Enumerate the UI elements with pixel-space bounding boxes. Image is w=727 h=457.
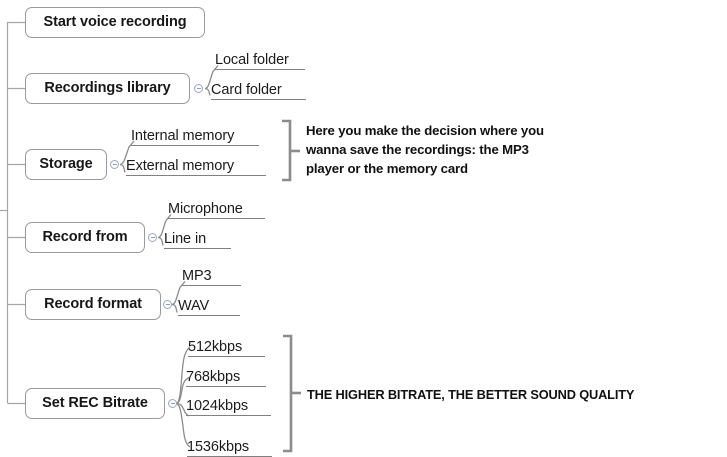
collapse-toggle-icon-record-from[interactable] [148,233,157,242]
leaf-label: 512kbps [188,340,242,355]
node-set-rec-bitrate[interactable]: Set REC Bitrate [25,388,165,419]
leaf-768kbps[interactable]: 768kbps [186,367,266,387]
leaf-local-folder[interactable]: Local folder [215,50,305,70]
leaf-label: Local folder [215,53,289,68]
annotation-storage: Here you make the decision where you wan… [306,121,636,178]
collapse-toggle-icon-recordings-library[interactable] [194,84,203,93]
leaf-label: Internal memory [131,129,234,144]
fan-recordings-library-2 [205,89,210,96]
leaf-label: 1024kbps [186,399,248,414]
node-record-format[interactable]: Record format [25,289,161,320]
node-start-voice-recording[interactable]: Start voice recording [25,7,205,38]
node-label: Recordings library [44,81,170,96]
node-label: Record from [42,230,127,245]
fan-storage-2 [120,165,125,173]
leaf-external-memory[interactable]: External memory [126,156,266,176]
leaf-label: 768kbps [186,370,240,385]
leaf-label: Card folder [211,83,282,98]
leaf-1024kbps[interactable]: 1024kbps [186,396,271,416]
leaf-microphone[interactable]: Microphone [168,199,265,219]
fan-record-from-2 [158,238,163,246]
collapse-toggle-icon-record-format[interactable] [163,300,172,309]
leaf-label: WAV [178,299,209,314]
leaf-1536kbps[interactable]: 1536kbps [187,437,272,457]
node-label: Start voice recording [44,15,187,30]
node-record-from[interactable]: Record from [25,222,145,253]
node-storage[interactable]: Storage [25,149,107,180]
node-label: Set REC Bitrate [42,396,148,411]
leaf-card-folder[interactable]: Card folder [211,80,306,100]
node-label: Record format [44,297,142,312]
fan-record-format-2 [172,305,177,313]
mindmap-canvas: Start voice recording Recordings library… [0,0,727,455]
leaf-wav[interactable]: WAV [178,296,240,316]
leaf-512kbps[interactable]: 512kbps [188,337,265,357]
leaf-label: MP3 [182,269,212,284]
leaf-mp3[interactable]: MP3 [182,266,241,286]
leaf-internal-memory[interactable]: Internal memory [131,126,259,146]
collapse-toggle-icon-storage[interactable] [110,160,119,169]
bracket-storage [282,121,290,180]
node-recordings-library[interactable]: Recordings library [25,73,190,104]
leaf-label: 1536kbps [187,440,249,455]
collapse-toggle-icon-set-rec-bitrate[interactable] [168,399,177,408]
leaf-label: Microphone [168,202,243,217]
leaf-label: Line in [164,232,206,247]
node-label: Storage [39,157,92,172]
bracket-bitrate [283,336,291,451]
leaf-label: External memory [126,159,234,174]
leaf-line-in[interactable]: Line in [164,229,231,249]
annotation-bitrate: THE HIGHER BITRATE, THE BETTER SOUND QUA… [307,386,634,405]
